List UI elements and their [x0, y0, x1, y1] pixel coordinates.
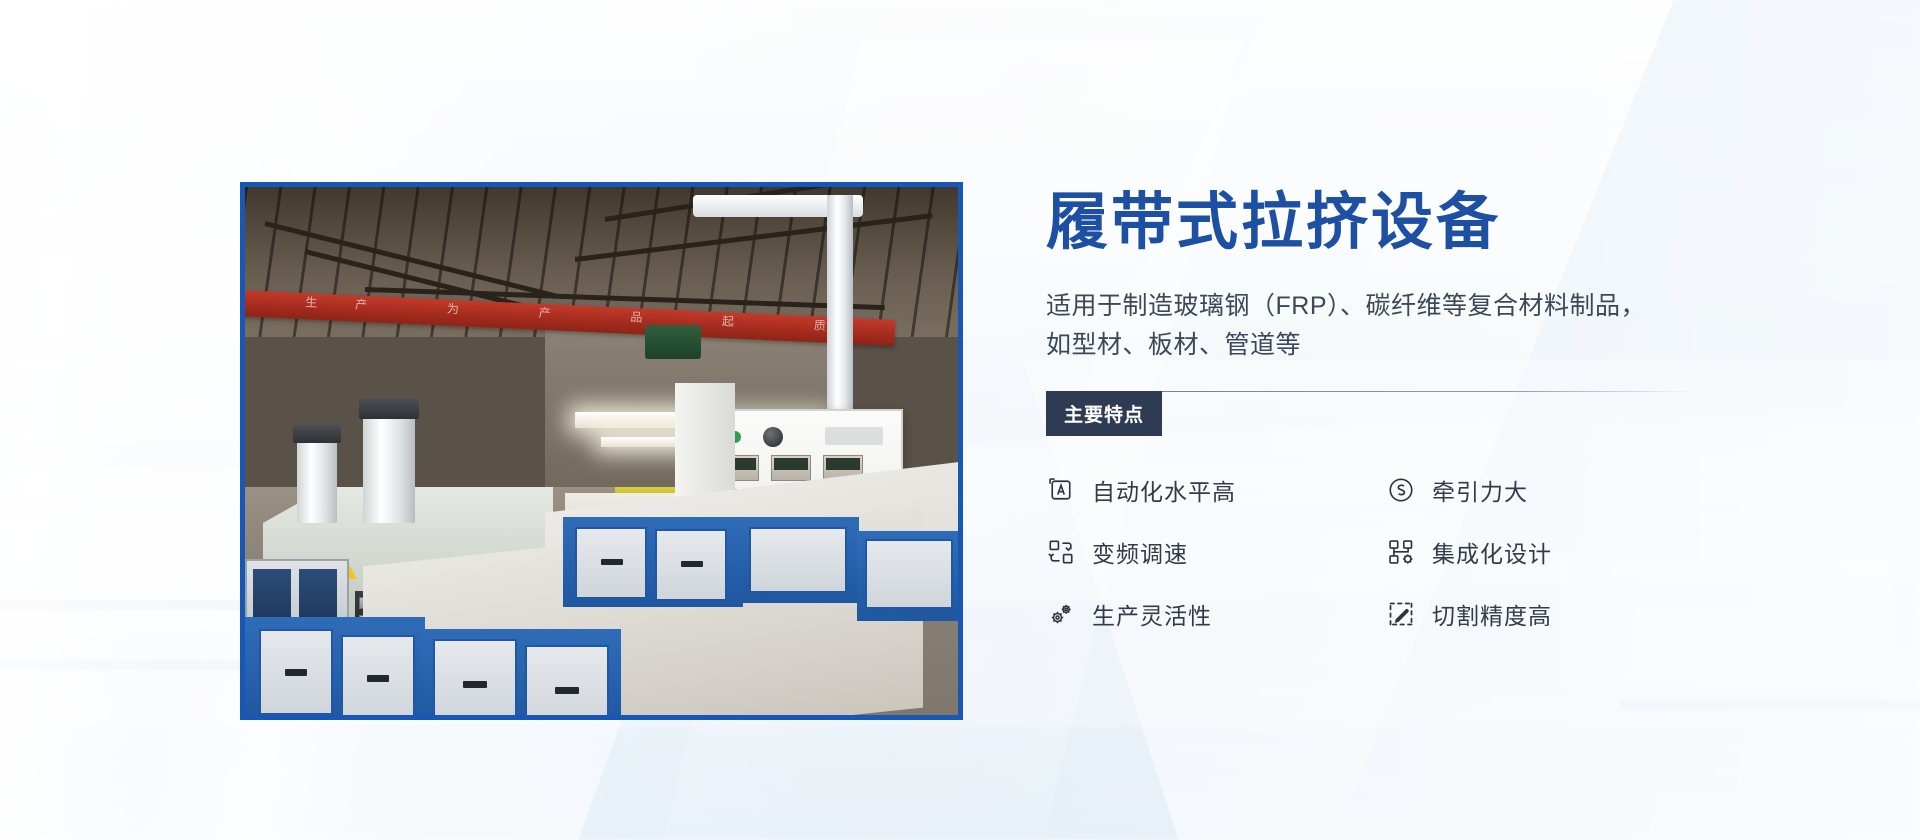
photo-rafter [605, 182, 932, 222]
photo-blue-cabinet [563, 517, 743, 607]
photo-control-panel [703, 409, 903, 579]
feature-item-integrated: 集成化设计 [1386, 535, 1694, 569]
photo-panel-column [675, 383, 735, 593]
photo-cabinet-door [749, 527, 847, 593]
banner-content: 履带式拉挤设备 适用于制造玻璃钢（FRP）、碳纤维等复合材料制品，如型材、板材、… [1046, 190, 1694, 631]
photo-window [601, 437, 691, 447]
photo-cabinet-handle [601, 559, 623, 565]
photo-panel-meter [823, 515, 863, 541]
photo-conveyor-table [363, 508, 923, 720]
gears-icon [1046, 599, 1076, 629]
photo-cabinet-handle [463, 681, 487, 688]
photo-panel-logo [825, 427, 883, 445]
photo-yellow-rack [615, 487, 725, 503]
feature-label: 变频调速 [1092, 535, 1188, 569]
photo-cabinet-window [245, 559, 349, 655]
photo-cabinet-handle [555, 687, 579, 694]
photo-bg-machine [565, 493, 725, 563]
feature-item-cutting: 切割精度高 [1386, 597, 1694, 631]
photo-blue-cabinet [245, 617, 425, 720]
letter-a-frame-icon [1046, 475, 1076, 505]
photo-hydraulic-cylinder [363, 415, 415, 523]
photo-panel-knob [779, 489, 795, 505]
photo-cylinder-cap [293, 425, 341, 443]
feature-item-frequency: 变频调速 [1046, 535, 1386, 569]
photo-conveyor-table-back [545, 461, 963, 643]
photo-panel-knob [831, 489, 847, 505]
photo-panel-knob [779, 549, 795, 565]
precision-cut-icon [1386, 599, 1416, 629]
feature-label: 生产灵活性 [1092, 597, 1212, 631]
photo-cabinet-door [433, 639, 517, 720]
photo-worker [705, 507, 721, 553]
photo-cabinet-handle [681, 561, 703, 567]
photo-panel-meter [771, 515, 811, 541]
photo-floor [245, 487, 958, 715]
photo-blue-cabinet [421, 629, 621, 720]
section-divider-row: 主要特点 [1046, 391, 1694, 429]
integrated-design-icon [1386, 537, 1416, 567]
photo-cabinet-handle [285, 669, 307, 676]
photo-extruder-body [263, 487, 553, 637]
photo-cabinet-door [655, 529, 727, 601]
photo-panel-led [729, 431, 741, 443]
feature-label: 集成化设计 [1432, 535, 1552, 569]
photo-warning-label [337, 561, 357, 579]
page-title: 履带式拉挤设备 [1046, 190, 1694, 255]
photo-panel-meter [719, 455, 759, 481]
status-badge: 主要特点 [1046, 391, 1162, 436]
photo-roller [359, 615, 463, 627]
photo-panel-meter [719, 515, 759, 541]
photo-window [715, 417, 825, 431]
photo-gantry-arm [693, 195, 863, 217]
feature-label: 切割精度高 [1432, 597, 1552, 631]
photo-roller [359, 633, 463, 645]
feature-item-traction: 牵引力大 [1386, 473, 1694, 507]
photo-cabinet-glass [299, 569, 337, 645]
feature-label: 牵引力大 [1432, 473, 1528, 507]
feature-label: 自动化水平高 [1092, 473, 1236, 507]
photo-gantry-post [827, 195, 853, 720]
photo-cabinet-door [575, 527, 647, 599]
photo-panel-knob [727, 549, 743, 565]
photo-extruder-opening [355, 591, 467, 649]
photo-panel-column [865, 383, 921, 593]
photo-panel-knob [727, 489, 743, 505]
feature-item-flexibility: 生产灵活性 [1046, 597, 1386, 631]
photo-roller [359, 597, 463, 609]
photo-crane-beam-text: 生产 为 产 品 起 质 [305, 293, 865, 335]
photo-cabinet-door [525, 645, 609, 720]
photo-cabinet-handle [367, 675, 389, 682]
photo-panel-dial [763, 427, 783, 447]
photo-crane-hoist [645, 325, 701, 359]
photo-panel-meter [823, 455, 863, 481]
photo-panel-meter [771, 455, 811, 481]
page-subtitle: 适用于制造玻璃钢（FRP）、碳纤维等复合材料制品，如型材、板材、管道等 [1046, 287, 1646, 365]
photo-cabinet-door [259, 629, 333, 715]
photo-blue-cabinet [739, 517, 859, 603]
frequency-transform-icon [1046, 537, 1076, 567]
photo-hydraulic-cylinder [297, 439, 337, 523]
feature-list: 自动化水平高 牵引力大 [1046, 473, 1694, 631]
photo-far-wall [545, 327, 845, 517]
traction-force-icon [1386, 475, 1416, 505]
photo-cabinet-door [341, 635, 415, 720]
product-photo: 生产 为 产 品 起 质 [240, 182, 963, 720]
photo-blue-cabinet [857, 531, 963, 621]
photo-rafter [575, 213, 933, 262]
feature-item-automation: 自动化水平高 [1046, 473, 1386, 507]
photo-rafter [264, 221, 556, 298]
photo-cabinet-glass [253, 569, 291, 645]
product-hero-banner: 生产 为 产 品 起 质 [0, 0, 1920, 840]
photo-cylinder-cap [359, 399, 419, 419]
photo-window [575, 412, 695, 428]
photo-cabinet-door [865, 539, 953, 609]
